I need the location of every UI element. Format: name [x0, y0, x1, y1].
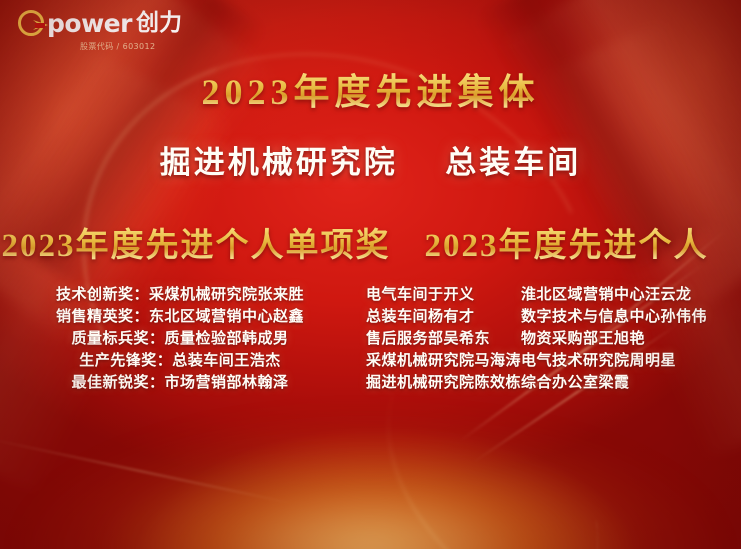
collective-winners: 掘进机械研究院 总装车间 [0, 137, 741, 182]
list-item: 总装车间杨有才 数字技术与信息中心孙伟伟 [366, 306, 741, 328]
stock-code-label: 股票代码 / 603012 [80, 41, 218, 52]
winner-name: 综合办公室梁霞 [521, 372, 741, 394]
winner-name: 总装车间杨有才 [366, 306, 521, 328]
winner-name: 数字技术与信息中心孙伟伟 [521, 306, 741, 328]
page-title: 2023年度先进集体 [0, 63, 741, 115]
individual-winners-list: 电气车间于开义 淮北区域营销中心汪云龙 总装车间杨有才 数字技术与信息中心孙伟伟… [360, 284, 741, 394]
list-item: 掘进机械研究院陈效栋 综合办公室梁霞 [366, 372, 741, 394]
list-item: 生产先锋奖：总装车间王浩杰 [0, 350, 360, 372]
logo-wordmark: power [47, 11, 132, 36]
list-item: 销售精英奖：东北区域营销中心赵鑫 [0, 306, 360, 328]
list-item: 采煤机械研究院马海涛 电气技术研究院周明星 [366, 350, 741, 372]
list-item: 售后服务部吴希东 物资采购部王旭艳 [366, 328, 741, 350]
power-plug-circle-icon [18, 10, 44, 36]
winner-name: 电气技术研究院周明星 [521, 350, 741, 372]
logo-chinese-name: 创力 [136, 12, 182, 35]
winner-name: 售后服务部吴希东 [366, 328, 521, 350]
list-item: 质量标兵奖：质量检验部韩成男 [0, 328, 360, 350]
winners-lists: 技术创新奖：采煤机械研究院张来胜 销售精英奖：东北区域营销中心赵鑫 质量标兵奖：… [0, 284, 741, 394]
heading-special-awards: 2023年度先进个人单项奖 [0, 218, 392, 266]
collective-winner-1: 掘进机械研究院 [160, 145, 398, 180]
special-awards-list: 技术创新奖：采煤机械研究院张来胜 销售精英奖：东北区域营销中心赵鑫 质量标兵奖：… [0, 284, 360, 394]
list-item: 电气车间于开义 淮北区域营销中心汪云龙 [366, 284, 741, 306]
logo-row: power 创力 [18, 10, 218, 36]
brand-logo: power 创力 股票代码 / 603012 [18, 10, 218, 52]
award-poster: power 创力 股票代码 / 603012 2023年度先进集体 掘进机械研究… [0, 0, 741, 549]
winner-name: 采煤机械研究院马海涛 [366, 350, 521, 372]
section-headings: 2023年度先进个人单项奖 2023年度先进个人 [0, 218, 741, 266]
list-item: 技术创新奖：采煤机械研究院张来胜 [0, 284, 360, 306]
heading-individuals: 2023年度先进个人 [392, 218, 741, 266]
list-item: 最佳新锐奖：市场营销部林翰泽 [0, 372, 360, 394]
winner-name: 淮北区域营销中心汪云龙 [521, 284, 741, 306]
collective-winner-2: 总装车间 [445, 145, 581, 180]
winner-name: 电气车间于开义 [366, 284, 521, 306]
winner-name: 掘进机械研究院陈效栋 [366, 372, 521, 394]
winner-name: 物资采购部王旭艳 [521, 328, 741, 350]
